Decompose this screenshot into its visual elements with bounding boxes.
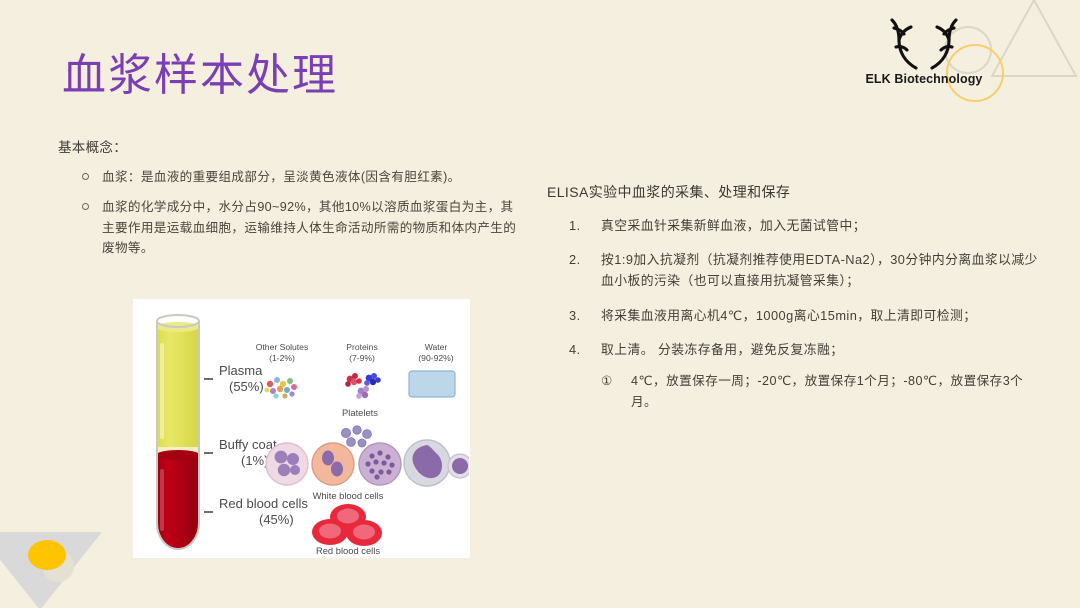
step-text: 取上清。 分装冻存备用，避免反复冻融；: [601, 342, 843, 357]
hollow-bullet-icon: [82, 173, 89, 180]
water-icon: [407, 369, 461, 401]
logo-text: ELK Biotechnology: [864, 72, 984, 86]
list-item: ① 4℃，放置保存一周；-20℃，放置保存1个月；-80℃，放置保存3个月。: [601, 371, 1047, 413]
label-red-blood-cells-group: Red blood cells: [293, 545, 403, 557]
antler-dna-helix-icon: [883, 16, 965, 70]
basic-concept-list: 血浆：是血液的重要组成部分，呈淡黄色液体(因含有胆红素)。 血浆的化学成分中，水…: [58, 167, 518, 259]
tube-tick-marks: [203, 307, 219, 551]
step-number: 1.: [569, 215, 595, 236]
list-item-text: 血浆：是血液的重要组成部分，呈淡黄色液体(因含有胆红素)。: [102, 170, 461, 184]
label-other-solutes: Other Solutes (1-2%): [243, 342, 321, 364]
list-item-text: 血浆的化学成分中，水分占90~92%，其他10%以溶质血浆蛋白为主，其主要作用是…: [102, 200, 516, 255]
red-blood-cells-icon: [304, 504, 390, 546]
sub-step-text: 4℃，放置保存一周；-20℃，放置保存1个月；-80℃，放置保存3个月。: [631, 374, 1023, 409]
label-proteins-percent: (7-9%): [349, 353, 375, 363]
step-number: 2.: [569, 249, 595, 270]
storage-sub-list: ① 4℃，放置保存一周；-20℃，放置保存1个月；-80℃，放置保存3个月。: [601, 371, 1047, 413]
list-item: 1. 真空采血针采集新鲜血液，加入无菌试管中；: [547, 215, 1047, 236]
label-other-solutes-percent: (1-2%): [269, 353, 295, 363]
proteins-icon: [339, 369, 385, 403]
step-text: 将采集血液用离心机4℃，1000g离心15min，取上清即可检测；: [601, 308, 977, 323]
circle-gold-bottom-decoration: [28, 540, 66, 570]
label-platelets: Platelets: [321, 407, 399, 419]
list-item: 3. 将采集血液用离心机4℃，1000g离心15min，取上清即可检测；: [547, 305, 1047, 326]
elisa-section-heading: ELISA实验中血浆的采集、处理和保存: [547, 182, 1047, 202]
label-water: Water (90-92%): [405, 342, 467, 364]
page-title: 血浆样本处理: [62, 52, 338, 100]
left-column: 基本概念： 血浆：是血液的重要组成部分，呈淡黄色液体(因含有胆红素)。 血浆的化…: [58, 136, 518, 269]
tube-label-plasma: Plasma (55%): [219, 363, 264, 396]
sub-step-number: ①: [601, 371, 613, 392]
logo: ELK Biotechnology: [864, 16, 984, 86]
tube-label-plasma-percent: (55%): [229, 379, 264, 395]
other-solutes-icon: [260, 372, 304, 402]
slide-root: ELK Biotechnology 血浆样本处理 基本概念： 血浆：是血液的重要…: [0, 0, 1080, 608]
list-item: 血浆：是血液的重要组成部分，呈淡黄色液体(因含有胆红素)。: [58, 167, 518, 187]
list-item: 2. 按1:9加入抗凝剂（抗凝剂推荐使用EDTA-Na2），30分钟内分离血浆以…: [547, 249, 1047, 291]
label-rbc-group-text: Red blood cells: [316, 545, 380, 556]
step-text: 按1:9加入抗凝剂（抗凝剂推荐使用EDTA-Na2），30分钟内分离血浆以减少血…: [601, 252, 1038, 288]
list-item: 血浆的化学成分中，水分占90~92%，其他10%以溶质血浆蛋白为主，其主要作用是…: [58, 197, 518, 258]
hollow-bullet-icon: [82, 203, 89, 210]
step-text: 真空采血针采集新鲜血液，加入无菌试管中；: [601, 218, 866, 233]
tube-label-plasma-name: Plasma: [219, 363, 262, 378]
step-number: 3.: [569, 305, 595, 326]
blood-tube-illustration: [151, 307, 205, 551]
basic-concept-label: 基本概念：: [58, 136, 518, 156]
list-item: 4. 取上清。 分装冻存备用，避免反复冻融； ① 4℃，放置保存一周；-20℃，…: [547, 339, 1047, 413]
label-water-name: Water: [425, 342, 448, 352]
white-blood-cells-icon: [264, 439, 469, 489]
label-proteins-name: Proteins: [346, 342, 378, 352]
label-platelets-text: Platelets: [342, 407, 378, 418]
label-white-blood-cells: White blood cells: [293, 490, 403, 502]
elisa-steps-list: 1. 真空采血针采集新鲜血液，加入无菌试管中； 2. 按1:9加入抗凝剂（抗凝剂…: [547, 215, 1047, 413]
label-water-percent: (90-92%): [418, 353, 453, 363]
label-proteins: Proteins (7-9%): [329, 342, 395, 364]
right-column: ELISA实验中血浆的采集、处理和保存 1. 真空采血针采集新鲜血液，加入无菌试…: [547, 182, 1047, 426]
tube-label-rbc-percent: (45%): [259, 512, 294, 528]
step-number: 4.: [569, 339, 595, 360]
blood-composition-diagram: Plasma (55%) Buffy coat (1%) Red blood c…: [133, 299, 470, 558]
label-wbc-text: White blood cells: [313, 490, 384, 501]
triangle-outline-decoration: [982, 0, 1078, 82]
label-other-solutes-name: Other Solutes: [256, 342, 309, 352]
triangle-gray-decoration: [0, 532, 102, 608]
circle-gray-bottom-decoration: [42, 550, 74, 582]
